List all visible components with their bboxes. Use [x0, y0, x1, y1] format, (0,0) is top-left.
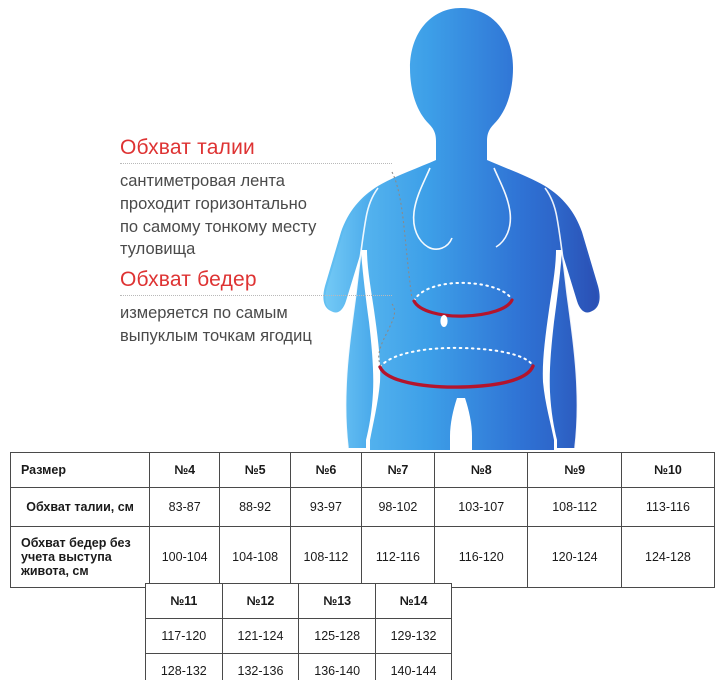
- table-row: Обхват талии, см 83-87 88-92 93-97 98-10…: [11, 488, 715, 527]
- table-ext-hips-2: 136-140: [299, 654, 376, 680]
- callout-waist-divider: [120, 163, 392, 164]
- table-main-hips-0: 100-104: [150, 527, 220, 588]
- callout-waist-body: сантиметровая лента проходит горизонталь…: [120, 170, 392, 261]
- table-row: №11 №12 №13 №14: [146, 584, 452, 619]
- table-ext-hips-0: 128-132: [146, 654, 223, 680]
- table-main-label-hips: Обхват бедер без учета выступа живота, с…: [11, 527, 150, 588]
- size-chart-page: Обхват талии сантиметровая лента проходи…: [0, 0, 725, 680]
- table-ext-hips-3: 140-144: [376, 654, 452, 680]
- table-main-label-waist: Обхват талии, см: [11, 488, 150, 527]
- callout-hips: Обхват бедер измеряется по самым выпуклы…: [120, 268, 392, 348]
- callout-hips-divider: [120, 295, 392, 296]
- table-row: Размер №4 №5 №6 №7 №8 №9 №10: [11, 453, 715, 488]
- table-main-head-3: №7: [361, 453, 434, 488]
- table-main-hips-2: 108-112: [291, 527, 362, 588]
- table-main-head-0: №4: [150, 453, 220, 488]
- table-main-hips-5: 120-124: [528, 527, 621, 588]
- table-main-waist-0: 83-87: [150, 488, 220, 527]
- table-row: Обхват бедер без учета выступа живота, с…: [11, 527, 715, 588]
- callout-hips-body: измеряется по самым выпуклым точкам ягод…: [120, 302, 392, 348]
- table-row: 117-120 121-124 125-128 129-132: [146, 619, 452, 654]
- table-main-waist-3: 98-102: [361, 488, 434, 527]
- table-ext-waist-2: 125-128: [299, 619, 376, 654]
- callout-waist-title: Обхват талии: [120, 136, 392, 159]
- table-main-waist-5: 108-112: [528, 488, 621, 527]
- table-ext-waist-1: 121-124: [222, 619, 299, 654]
- navel: [440, 315, 447, 327]
- table-ext-waist-3: 129-132: [376, 619, 452, 654]
- table-main-waist-2: 93-97: [291, 488, 362, 527]
- table-ext-head-2: №13: [299, 584, 376, 619]
- table-ext-hips-1: 132-136: [222, 654, 299, 680]
- table-main-head-6: №10: [621, 453, 714, 488]
- callout-hips-title: Обхват бедер: [120, 268, 392, 291]
- table-main-head-4: №8: [435, 453, 528, 488]
- table-main-hips-6: 124-128: [621, 527, 714, 588]
- table-row: 128-132 132-136 136-140 140-144: [146, 654, 452, 680]
- table-main-head-5: №9: [528, 453, 621, 488]
- table-main-waist-1: 88-92: [220, 488, 291, 527]
- table-main-waist-4: 103-107: [435, 488, 528, 527]
- table-main-waist-6: 113-116: [621, 488, 714, 527]
- table-main-head-2: №6: [291, 453, 362, 488]
- table-ext-head-1: №12: [222, 584, 299, 619]
- table-main-hips-1: 104-108: [220, 527, 291, 588]
- size-table-extension: №11 №12 №13 №14 117-120 121-124 125-128 …: [145, 583, 452, 680]
- table-ext-waist-0: 117-120: [146, 619, 223, 654]
- table-main-head-1: №5: [220, 453, 291, 488]
- callout-waist: Обхват талии сантиметровая лента проходи…: [120, 136, 392, 261]
- table-ext-head-3: №14: [376, 584, 452, 619]
- table-main-hips-3: 112-116: [361, 527, 434, 588]
- size-table-main: Размер №4 №5 №6 №7 №8 №9 №10 Обхват тали…: [10, 452, 715, 588]
- table-ext-head-0: №11: [146, 584, 223, 619]
- table-main-hips-4: 116-120: [435, 527, 528, 588]
- table-main-label-size: Размер: [11, 453, 150, 488]
